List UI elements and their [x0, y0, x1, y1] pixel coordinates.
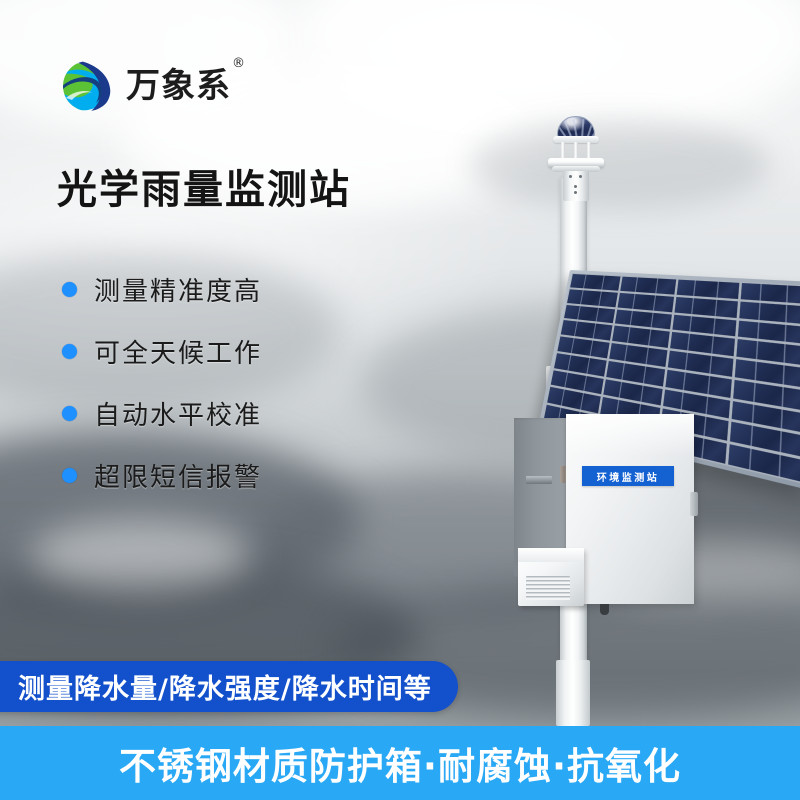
list-item: 测量精准度高 [62, 258, 262, 320]
sensor-dome-icon [557, 116, 595, 138]
cloud-highlight [30, 520, 250, 590]
feature-label: 可全天候工作 [94, 333, 262, 370]
registered-trademark-icon: ® [232, 57, 246, 70]
bottom-feature-bar: 不锈钢材质防护箱·耐腐蚀·抗氧化 [0, 726, 800, 800]
cabinet-latch [690, 492, 698, 516]
swirl-globe-logo-icon [60, 58, 116, 114]
mounting-pole-base [556, 660, 590, 726]
door-gloss [566, 414, 694, 456]
louvre-vent-icon [526, 576, 570, 600]
page-title: 光学雨量监测站 [57, 168, 351, 212]
blue-dot-bullet-icon [62, 406, 77, 421]
blue-dot-bullet-icon [62, 468, 77, 483]
list-item: 可全天候工作 [62, 320, 262, 382]
brand-name: 万象系 ® [126, 69, 231, 103]
cabinet-vent [526, 476, 552, 484]
list-item: 超限短信报警 [62, 444, 262, 506]
cabinet-door: 环境监测站 [566, 414, 694, 604]
list-item: 自动水平校准 [62, 382, 262, 444]
stainless-steel-cabinet: 环境监测站 [514, 418, 694, 608]
cabinet-label-plate: 环境监测站 [582, 466, 674, 486]
product-poster: 环境监测站 [0, 0, 800, 800]
blue-dot-bullet-icon [62, 344, 77, 359]
brand-name-text: 万象系 [126, 66, 231, 106]
feature-label: 自动水平校准 [94, 395, 262, 432]
cabinet-bottom-fitting [600, 604, 609, 615]
bottom-feature-bar-text: 不锈钢材质防护箱·耐腐蚀·抗氧化 [119, 736, 681, 790]
optical-rain-sensor [548, 116, 604, 200]
blue-dot-bullet-icon [62, 282, 77, 297]
feature-label: 测量精准度高 [94, 271, 262, 308]
accessory-box-top [518, 548, 584, 562]
vented-accessory-box [518, 548, 584, 606]
capability-banner: 测量降水量/降水强度/降水时间等 [0, 661, 458, 712]
monitoring-station-photo: 环境监测站 [452, 100, 800, 726]
feature-label: 超限短信报警 [94, 457, 262, 494]
capability-banner-text: 测量降水量/降水强度/降水时间等 [18, 667, 432, 706]
feature-list: 测量精准度高 可全天候工作 自动水平校准 超限短信报警 [62, 258, 262, 506]
sensor-body [563, 171, 589, 201]
brand-logo: 万象系 ® [60, 58, 231, 114]
cabinet-label-text: 环境监测站 [597, 469, 660, 484]
